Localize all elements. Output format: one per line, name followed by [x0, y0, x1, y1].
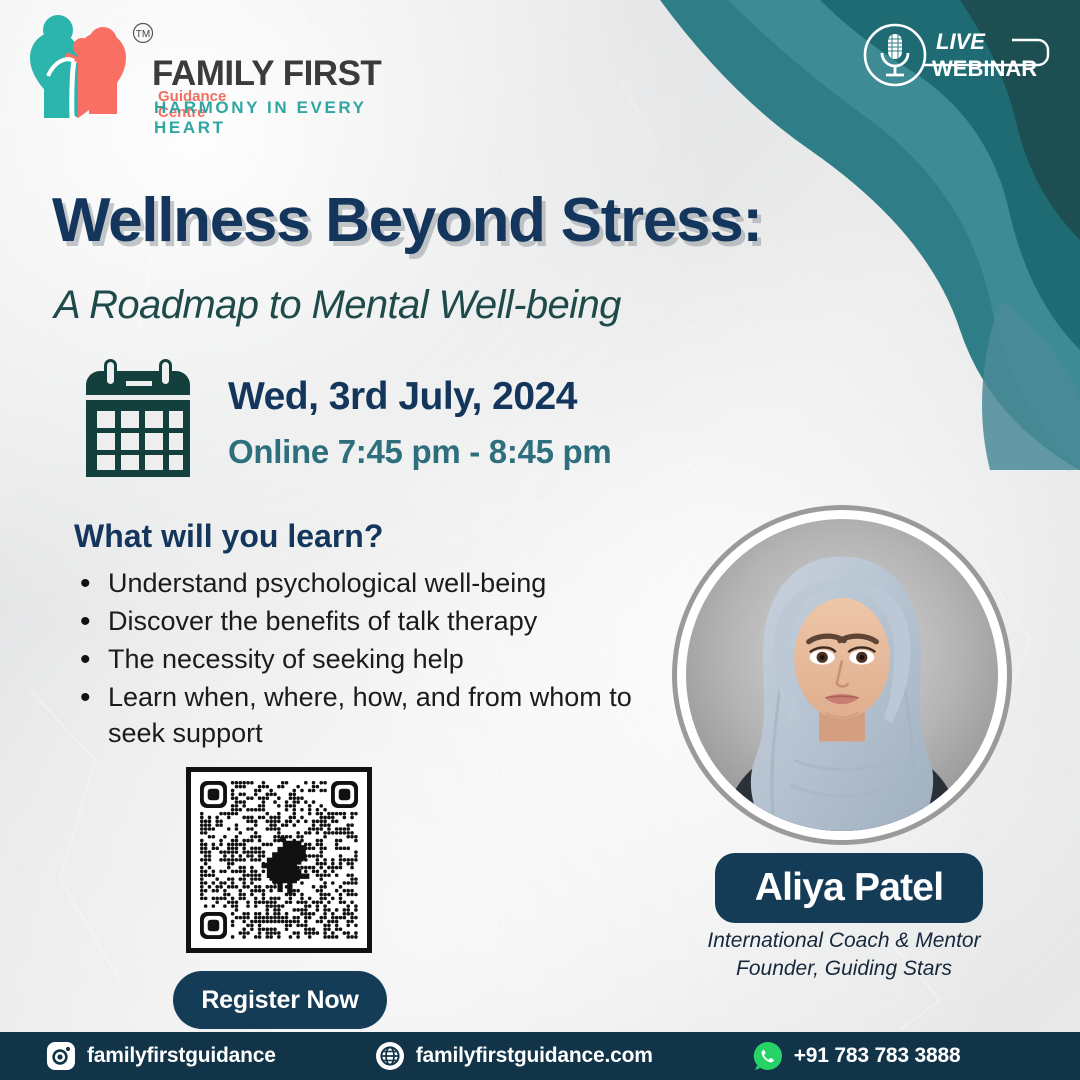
event-time: Online 7:45 pm - 8:45 pm: [228, 433, 611, 471]
learn-list: Understand psychological well-being Disc…: [74, 566, 654, 754]
brand-logo: TM FAMILY FIRSTGuidanceCentre HARMONY IN…: [24, 14, 424, 124]
trademark-symbol: TM: [132, 22, 154, 47]
footer-instagram[interactable]: familyfirstguidance: [46, 1041, 276, 1071]
speaker-photo-ring: [672, 505, 1012, 845]
list-item: The necessity of seeking help: [74, 642, 654, 678]
list-item: Understand psychological well-being: [74, 566, 654, 602]
speaker-role-line1: International Coach & Mentor: [672, 929, 1016, 953]
contact-footer: familyfirstguidance familyfirstguidance.…: [0, 1032, 1080, 1080]
webinar-label: WEBINAR: [932, 56, 1037, 81]
event-date: Wed, 3rd July, 2024: [228, 375, 577, 419]
whatsapp-icon: [753, 1041, 783, 1071]
learn-heading: What will you learn?: [74, 518, 383, 555]
register-button[interactable]: Register Now: [173, 971, 387, 1029]
page-title: Wellness Beyond Stress:: [52, 185, 762, 256]
calendar-icon: [78, 357, 198, 485]
family-heart-logo-icon: [24, 14, 132, 124]
footer-website[interactable]: familyfirstguidance.com: [375, 1041, 653, 1071]
microphone-icon: [882, 34, 908, 75]
qr-code[interactable]: [186, 767, 372, 953]
live-webinar-badge: LIVE WEBINAR: [862, 22, 1052, 88]
speaker-portrait: [686, 519, 998, 831]
instagram-handle: familyfirstguidance: [87, 1044, 276, 1068]
whatsapp-phone: +91 783 783 3888: [794, 1044, 961, 1068]
speaker-name: Aliya Patel: [755, 866, 943, 910]
event-datetime-block: Wed, 3rd July, 2024 Online 7:45 pm - 8:4…: [78, 355, 698, 490]
website-url: familyfirstguidance.com: [416, 1044, 653, 1068]
speaker-photo-inner-ring: [677, 510, 1007, 840]
globe-icon: [375, 1041, 405, 1071]
qr-code-modules: [200, 781, 358, 939]
footer-whatsapp[interactable]: +91 783 783 3888: [753, 1041, 961, 1071]
svg-text:TM: TM: [136, 29, 150, 40]
brand-name: FAMILY FIRST: [152, 56, 381, 91]
live-label: LIVE: [936, 29, 986, 54]
webinar-poster: TM FAMILY FIRSTGuidanceCentre HARMONY IN…: [0, 0, 1080, 1080]
instagram-icon: [46, 1041, 76, 1071]
list-item: Learn when, where, how, and from whom to…: [74, 680, 654, 752]
speaker-name-badge: Aliya Patel: [715, 853, 983, 923]
list-item: Discover the benefits of talk therapy: [74, 604, 654, 640]
speaker-role-line2: Founder, Guiding Stars: [672, 957, 1016, 981]
brand-tagline: HARMONY IN EVERY HEART: [154, 98, 424, 138]
page-subtitle: A Roadmap to Mental Well-being: [54, 283, 621, 328]
